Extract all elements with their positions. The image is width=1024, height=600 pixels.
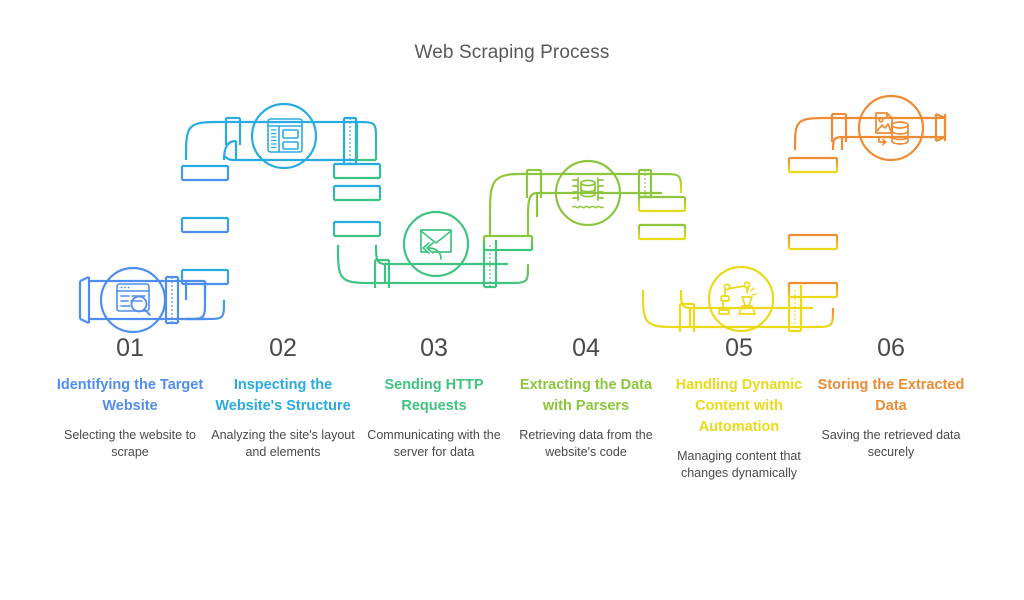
step-title-2: Inspecting the Website's Structure — [207, 375, 359, 417]
step-column-4: 04 Extracting the Data with Parsers Retr… — [510, 335, 662, 462]
pipe-segment-3 — [338, 212, 508, 288]
step-title-4: Extracting the Data with Parsers — [510, 375, 662, 417]
pipe-riser-4-5 — [639, 174, 685, 290]
step-number-6: 06 — [815, 335, 967, 363]
step-title-5: Handling Dynamic Content with Automation — [663, 375, 815, 438]
step-description-5: Managing content that changes dynamicall… — [663, 448, 815, 484]
step-description-4: Retrieving data from the website's code — [510, 427, 662, 463]
step-title-3: Sending HTTP Requests — [358, 375, 510, 417]
step-column-2: 02 Inspecting the Website's Structure An… — [207, 335, 359, 462]
pipeline-diagram — [0, 0, 1024, 600]
step-description-2: Analyzing the site's layout and elements — [207, 427, 359, 463]
mail-reply-icon — [421, 230, 451, 259]
pipe-riser-5-6 — [789, 150, 837, 327]
browser-layout-icon — [268, 119, 302, 152]
step-description-6: Saving the retrieved data securely — [815, 427, 967, 463]
step-number-5: 05 — [663, 335, 815, 363]
step-number-3: 03 — [358, 335, 510, 363]
step-description-1: Selecting the website to scrape — [54, 427, 206, 463]
web-scraping-process-infographic: Web Scraping Process — [0, 0, 1024, 600]
step-number-1: 01 — [54, 335, 206, 363]
step-column-3: 03 Sending HTTP Requests Communicating w… — [358, 335, 510, 462]
pipe-segment-5 — [643, 267, 813, 332]
pipe-riser-3-4 — [484, 236, 532, 283]
pipe-segment-6 — [795, 96, 945, 160]
robot-arm-icon — [719, 282, 756, 314]
step-description-3: Communicating with the server for data — [358, 427, 510, 463]
step-number-4: 04 — [510, 335, 662, 363]
step-title-6: Storing the Extracted Data — [815, 375, 967, 417]
step-column-1: 01 Identifying the Target Website Select… — [54, 335, 206, 462]
pipe-riser-2-3 — [334, 122, 380, 245]
step-column-6: 06 Storing the Extracted Data Saving the… — [815, 335, 967, 462]
step-title-1: Identifying the Target Website — [54, 375, 206, 417]
step-column-5: 05 Handling Dynamic Content with Automat… — [663, 335, 815, 483]
pipe-segment-2 — [186, 104, 357, 168]
browser-search-icon — [117, 284, 150, 315]
step-number-2: 02 — [207, 335, 359, 363]
